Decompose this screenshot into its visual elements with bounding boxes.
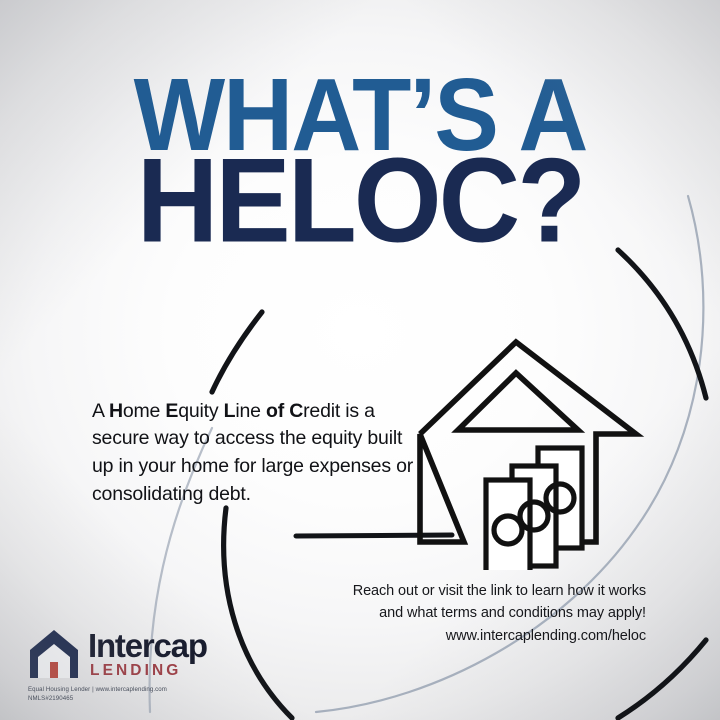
body-segment-9: C [289,400,303,422]
disclosure-line-1: Equal Housing Lender | www.intercaplendi… [28,685,268,694]
body-segment-1: H [109,400,123,422]
body-segment-7: of [266,400,284,422]
body-segment-5: L [224,400,236,422]
logo-wordmark: Intercap [88,630,207,661]
cta-url[interactable]: www.intercaplending.com/heloc [226,625,646,647]
body-segment-6: ine [235,400,266,422]
cta-line-1: Reach out or visit the link to learn how… [226,580,646,602]
cta-block: Reach out or visit the link to learn how… [226,580,646,647]
body-segment-2: ome [123,400,166,422]
body-segment-0: A [92,400,109,422]
intercap-logo[interactable]: Intercap LENDING Equal Housing Lender | … [28,628,268,703]
headline-line-2: HELOC? [0,148,720,253]
body-segment-3: E [165,400,178,422]
cta-line-2: and what terms and conditions may apply! [226,602,646,624]
intercap-house-icon [28,628,80,680]
logo-subtitle: LENDING [88,663,207,679]
large-dark-circle-arc-top [212,312,262,392]
large-dark-circle-arc-bottom-right [618,640,706,718]
headline-block: WHAT’S A HELOC? [0,72,720,251]
body-segment-4: quity [178,400,223,422]
poster-canvas: WHAT’S A HELOC? A Home Equity Line of Cr… [0,0,720,720]
disclosure-line-2: NMLS#2190465 [28,694,268,703]
logo-disclosure: Equal Housing Lender | www.intercaplendi… [28,685,268,703]
house-with-money-icon [398,330,648,570]
body-paragraph: A Home Equity Line of Credit is a secure… [92,398,422,509]
